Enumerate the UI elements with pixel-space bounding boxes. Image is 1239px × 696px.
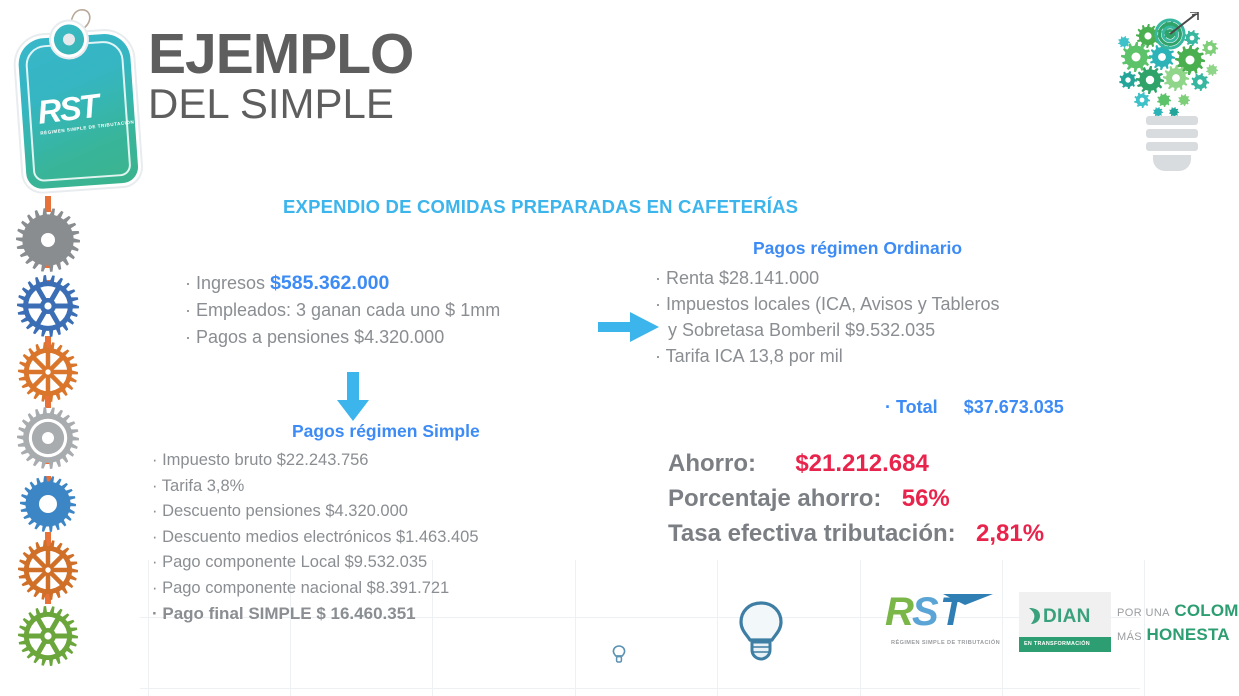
list-item: · Pagos a pensiones $4.320.000 (185, 324, 500, 351)
slogan-small-1: POR UNA (1117, 607, 1170, 619)
rst-tag-logo: RST RÉGIMEN SIMPLE DE TRIBUTACIÓN (8, 8, 148, 193)
bulb-base (1146, 116, 1198, 174)
savings-row-1-value: 56% (902, 481, 950, 516)
dian-logo: DIAN EN TRANSFORMACIÓN (1019, 592, 1111, 652)
slogan-big-1: COLOMBIA (1174, 601, 1239, 620)
svg-text:S: S (912, 592, 939, 632)
list-item: · Impuestos locales (ICA, Avisos y Table… (655, 291, 1125, 317)
gear-lightbulb-icon (1112, 12, 1232, 177)
list-item: · Renta $28.141.000 (655, 265, 1125, 291)
slogan-small-2: MÁS (1117, 631, 1142, 643)
list-item: · Descuento pensiones $4.320.000 (152, 499, 479, 525)
dian-name: DIAN (1043, 606, 1091, 628)
mini-lightbulb-icon (612, 645, 626, 663)
title-line-2: DEL SIMPLE (148, 80, 413, 128)
dian-band: EN TRANSFORMACIÓN (1019, 637, 1111, 652)
dian-band-text: EN TRANSFORMACIÓN (1024, 641, 1090, 647)
list-item: y Sobretasa Bomberil $9.532.035 (655, 317, 1125, 343)
rst-footer-mark: R S T (885, 592, 1013, 632)
slogan-line-1: POR UNA COLOMBIA (1117, 600, 1239, 624)
slide-canvas: RST RÉGIMEN SIMPLE DE TRIBUTACIÓN EJEMPL… (0, 0, 1239, 696)
svg-text:R: R (885, 592, 914, 632)
list-item-final: · Pago final SIMPLE $ 16.460.351 (152, 601, 479, 627)
page-title: EJEMPLO DEL SIMPLE (148, 28, 413, 128)
list-item: · Ingresos $585.362.000 (185, 270, 500, 297)
savings-row-0-value: $21.212.684 (795, 446, 928, 481)
list-item: · Pago componente Local $9.532.035 (152, 550, 479, 576)
section-title: EXPENDIO DE COMIDAS PREPARADAS EN CAFETE… (283, 196, 798, 218)
savings-row: Porcentaje ahorro: 56% (668, 481, 1044, 516)
dian-moon-icon (1027, 607, 1041, 625)
simple-block: · Impuesto bruto $22.243.756 · Tarifa 3,… (152, 448, 479, 627)
total-label: · Total (885, 397, 938, 417)
arrow-down-icon (336, 372, 370, 422)
inputs-row-0-label: · Ingresos (185, 273, 265, 293)
inputs-row-0-value: $585.362.000 (270, 272, 389, 294)
slogan-big-2: HONESTA (1147, 625, 1230, 644)
rst-footer-caption: RÉGIMEN SIMPLE DE TRIBUTACIÓN (891, 640, 1000, 646)
colombia-honesta-slogan: POR UNA COLOMBIA MÁS HONESTA (1117, 600, 1239, 648)
rst-footer-logo: R S T RÉGIMEN SIMPLE DE TRIBUTACIÓN (885, 592, 1013, 646)
list-item: · Empleados: 3 ganan cada uno $ 1mm (185, 297, 500, 324)
lightbulb-icon (735, 600, 787, 666)
inputs-block: · Ingresos $585.362.000 · Empleados: 3 g… (185, 270, 500, 351)
slogan-line-2: MÁS HONESTA (1117, 624, 1239, 648)
savings-row-2-value: 2,81% (976, 516, 1044, 551)
ordinario-block: · Renta $28.141.000 · Impuestos locales … (655, 265, 1125, 369)
list-item: · Tarifa ICA 13,8 por mil (655, 343, 1125, 369)
arrow-right-icon (598, 310, 660, 344)
total-value: $37.673.035 (964, 397, 1064, 417)
savings-row-1-label: Porcentaje ahorro: (668, 481, 881, 516)
savings-row: Tasa efectiva tributación: 2,81% (668, 516, 1044, 551)
ordinario-heading: Pagos régimen Ordinario (753, 238, 962, 259)
list-item: · Descuento medios electrónicos $1.463.4… (152, 525, 479, 551)
savings-row-0-label: Ahorro: (668, 446, 756, 481)
list-item: · Pago componente nacional $8.391.721 (152, 576, 479, 602)
savings-row: Ahorro: $21.212.684 (668, 446, 1044, 481)
title-line-1: EJEMPLO (148, 28, 413, 80)
gear-rail (0, 196, 96, 670)
savings-row-2-label: Tasa efectiva tributación: (668, 516, 956, 551)
list-item: · Tarifa 3,8% (152, 474, 479, 500)
savings-summary: Ahorro: $21.212.684 Porcentaje ahorro: 5… (668, 446, 1044, 551)
list-item: · Impuesto bruto $22.243.756 (152, 448, 479, 474)
tag-body: RST RÉGIMEN SIMPLE DE TRIBUTACIÓN (17, 32, 139, 189)
simple-heading: Pagos régimen Simple (292, 421, 480, 442)
ordinario-total: · Total $37.673.035 (885, 397, 1064, 418)
